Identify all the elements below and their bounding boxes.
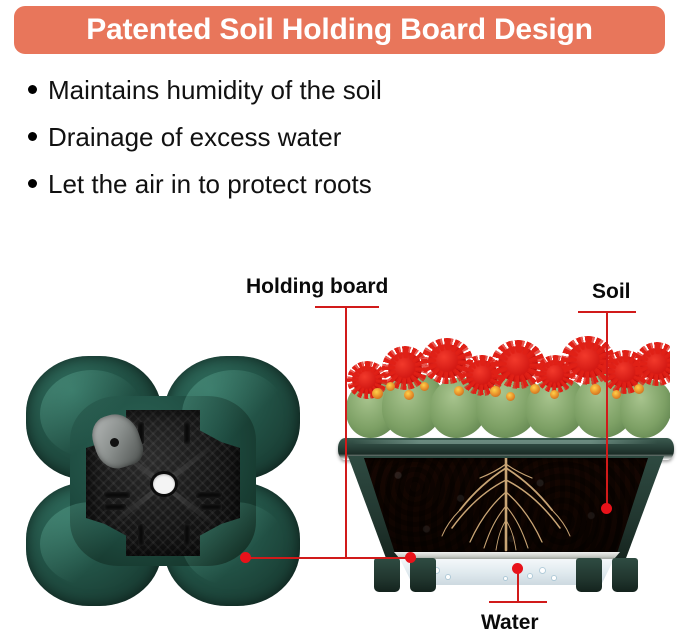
planter-foot (576, 558, 602, 592)
leader-marker-holding-board-left (240, 552, 251, 563)
bullet-dot-icon (28, 85, 37, 94)
water-bubble (540, 568, 545, 573)
flower-bud (490, 386, 501, 397)
flower-bloom (498, 346, 538, 382)
flower-bud (550, 390, 559, 399)
header-banner: Patented Soil Holding Board Design (14, 6, 665, 54)
flower-bud (612, 390, 621, 399)
flower-bud (590, 384, 601, 395)
feature-text: Maintains humidity of the soil (48, 77, 382, 103)
water-bubble (504, 577, 507, 580)
flower-bud (372, 388, 383, 399)
flower-bud (634, 384, 644, 394)
vent-slot (184, 524, 190, 546)
feature-list: Maintains humidity of the soil Drainage … (28, 66, 648, 207)
flower-bloom (640, 348, 670, 380)
flower-bud (420, 382, 429, 391)
callout-label-soil: Soil (592, 281, 631, 302)
bullet-dot-icon (28, 132, 37, 141)
water-bubble (528, 574, 532, 578)
flower-bloom (388, 352, 422, 384)
flower-bud (454, 386, 464, 396)
leader-marker-soil (601, 503, 612, 514)
flower-bud (506, 392, 515, 401)
planter-foot (374, 558, 400, 592)
flower-bed (344, 330, 670, 446)
feature-item: Maintains humidity of the soil (28, 66, 648, 113)
vent-slot (104, 492, 130, 498)
feature-text: Let the air in to protect roots (48, 171, 372, 197)
feature-text: Drainage of excess water (48, 124, 341, 150)
leader-line-holding-board (345, 306, 347, 558)
planter-foot (410, 558, 436, 592)
callout-label-holding-board: Holding board (246, 276, 388, 297)
flower-bud (404, 390, 414, 400)
planter-foot (612, 558, 638, 592)
leader-line-holding-board (315, 306, 379, 308)
clip-hole (110, 438, 119, 447)
feature-item: Drainage of excess water (28, 113, 648, 160)
feature-item: Let the air in to protect roots (28, 160, 648, 207)
water-bubble (552, 576, 556, 580)
leader-line-holding-board (245, 557, 415, 559)
leader-line-soil (606, 311, 608, 509)
vent-slot (104, 504, 126, 510)
vent-slot (184, 422, 190, 444)
callout-label-water: Water (481, 612, 539, 633)
planter-rim-highlight (352, 440, 658, 444)
vent-slot (200, 504, 222, 510)
page-title: Patented Soil Holding Board Design (86, 15, 593, 45)
bullet-dot-icon (28, 179, 37, 188)
flower-bud (530, 384, 540, 394)
vent-slot (138, 524, 144, 546)
vent-slot (196, 492, 222, 498)
leader-marker-water (512, 563, 523, 574)
product-image-holding-board (18, 352, 308, 610)
leader-marker-holding-board-right (405, 552, 416, 563)
water-bubble (446, 575, 450, 579)
flower-bud (386, 382, 395, 391)
drainage-hole (153, 474, 175, 494)
